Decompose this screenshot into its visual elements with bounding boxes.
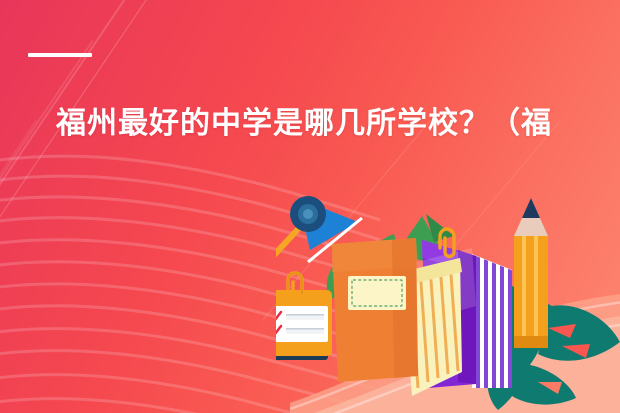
pencil: [514, 198, 548, 348]
white-striped-book: [472, 254, 512, 388]
light-streak-3: [0, 40, 94, 273]
pencil-tip: [522, 198, 540, 218]
clipboard: [276, 273, 332, 356]
orange-notebook: [332, 238, 418, 382]
notebook-label: [348, 276, 406, 310]
light-streak-4: [0, 120, 37, 320]
study-desk-illustration: [276, 176, 620, 413]
page-title: 福州最好的中学是哪几所学校？（福: [56, 104, 620, 144]
article-cover-banner: 福州最好的中学是哪几所学校？（福: [0, 0, 620, 413]
clipboard-paper: [276, 306, 328, 342]
title-accent-rule: [28, 53, 92, 57]
